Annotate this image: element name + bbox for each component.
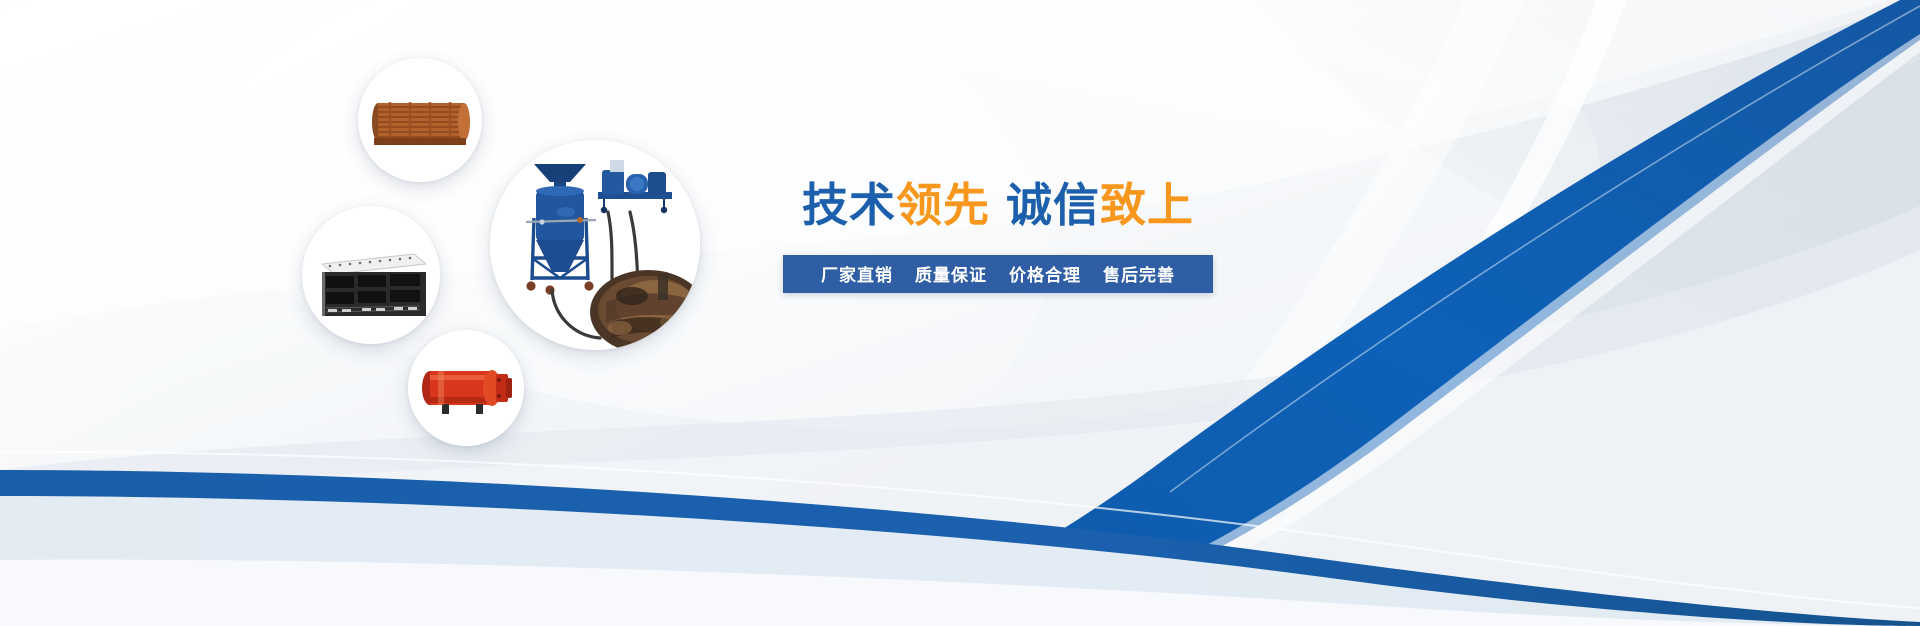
subtitle-bar: 厂家直销 质量保证 价格合理 售后完善 — [783, 255, 1213, 293]
headline-segment-3: 诚信 — [1006, 179, 1100, 231]
headline-segment-4: 致上 — [1100, 179, 1194, 231]
product-circle-sandblaster[interactable] — [490, 140, 700, 350]
subtitle-chip-3: 价格合理 — [1009, 261, 1081, 286]
copper-tube-bundle-icon — [358, 58, 482, 182]
headline-segment-1: 技术 — [802, 179, 896, 231]
plate-heat-exchanger-icon — [302, 206, 440, 344]
promo-banner: 技术领先诚信致上 厂家直销 质量保证 价格合理 售后完善 — [0, 0, 1920, 626]
banner-text-block: 技术领先诚信致上 厂家直销 质量保证 价格合理 售后完善 — [783, 180, 1213, 293]
product-circle-plate-pack[interactable] — [302, 206, 440, 344]
subtitle-chip-2: 质量保证 — [915, 261, 987, 286]
headline: 技术领先诚信致上 — [783, 180, 1213, 231]
background-swoosh-graphic — [0, 0, 1920, 626]
headline-segment-2: 领先 — [896, 179, 990, 231]
subtitle-chip-4: 售后完善 — [1103, 261, 1175, 286]
sandblasting-machine-icon — [490, 140, 700, 350]
product-circle-tube-bundle[interactable] — [358, 58, 482, 182]
subtitle-chip-1: 厂家直销 — [821, 261, 893, 286]
